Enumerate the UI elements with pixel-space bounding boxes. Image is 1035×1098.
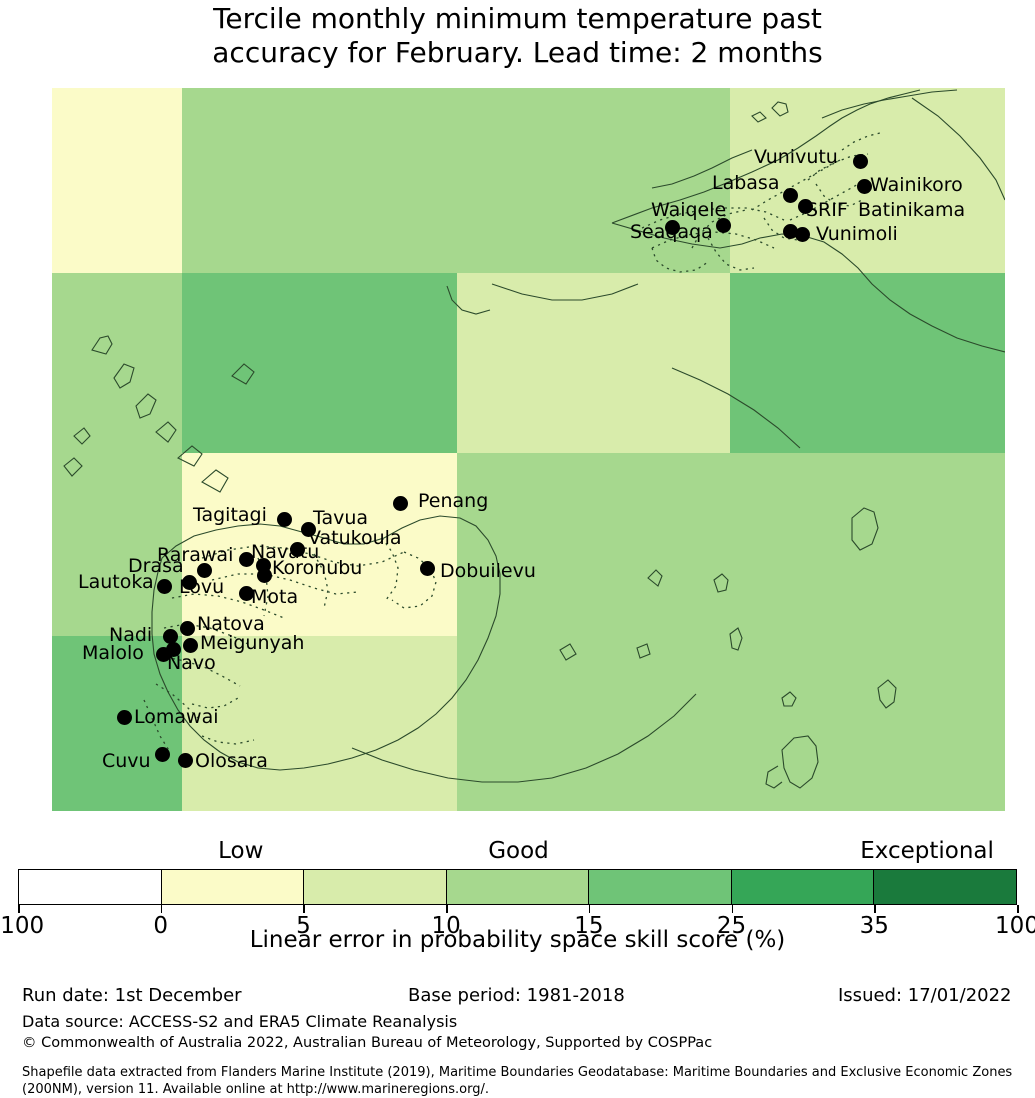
colorbar-category-label: Good (488, 838, 549, 864)
colorbar-tick-mark (161, 905, 163, 913)
station-label: Wainikoro (870, 176, 963, 195)
colorbar-band (19, 870, 161, 904)
colorbar-axis-label: Linear error in probability space skill … (0, 927, 1035, 953)
base-period-text: Base period: 1981-2018 (408, 985, 625, 1006)
station-dot (157, 579, 172, 594)
station-label: Dobuilevu (440, 562, 536, 581)
station-label: Olosara (195, 752, 268, 771)
station-label: Waiqele (651, 201, 726, 220)
station-dot (257, 568, 272, 583)
station-label: Koronubu (272, 559, 362, 578)
station-label: Meigunyah (200, 634, 304, 653)
colorbar-category-label: Exceptional (860, 838, 994, 864)
station-label: Lovu (179, 578, 224, 597)
station-label: Cuvu (102, 752, 151, 771)
station-label: Lautoka (78, 573, 154, 592)
title-line-1: Tercile monthly minimum temperature past (0, 2, 1035, 36)
station-dot (853, 154, 868, 169)
station-dot (183, 638, 198, 653)
colorbar-tick-mark (589, 905, 591, 913)
colorbar-band (446, 870, 589, 904)
station-label: Tagitagi (193, 506, 267, 525)
station-label: Batinikama (858, 201, 965, 220)
colorbar-tick-mark (1017, 905, 1019, 913)
station-dot (420, 561, 435, 576)
station-dot (117, 710, 132, 725)
colorbar-band (303, 870, 446, 904)
colorbar-tick-mark (874, 905, 876, 913)
colorbar-tick-mark (446, 905, 448, 913)
station-label: Lomawai (134, 708, 219, 727)
colorbar-band (731, 870, 874, 904)
station-dot (393, 496, 408, 511)
station-label: SRIF (806, 201, 848, 220)
station-label: Malolo (82, 644, 144, 663)
station-label: Mota (251, 588, 298, 607)
coastline-layer (52, 88, 1005, 811)
skill-score-map: VunivutuWainikoroLabasaWaiqeleSRIFBatini… (52, 88, 1005, 811)
station-label: Vunimoli (816, 225, 898, 244)
page-title: Tercile monthly minimum temperature past… (0, 2, 1035, 70)
station-label: Seaqaqa (630, 223, 713, 242)
station-dot (180, 621, 195, 636)
colorbar-band (873, 870, 1016, 904)
data-source-text: Data source: ACCESS-S2 and ERA5 Climate … (22, 1012, 457, 1031)
station-label: Tavua (313, 509, 368, 528)
colorbar-category-label: Low (218, 838, 263, 864)
shapefile-attribution-text: Shapefile data extracted from Flanders M… (22, 1064, 1022, 1098)
station-label: Penang (418, 492, 488, 511)
station-dot (155, 747, 170, 762)
station-label: Vatukoula (308, 529, 402, 548)
title-line-2: accuracy for February. Lead time: 2 mont… (0, 36, 1035, 70)
colorbar (18, 869, 1017, 905)
issued-date-text: Issued: 17/01/2022 (838, 985, 1012, 1006)
colorbar-band (588, 870, 731, 904)
colorbar-tick-mark (732, 905, 734, 913)
station-dot (783, 188, 798, 203)
colorbar-tick-mark (18, 905, 20, 913)
station-dot (795, 227, 810, 242)
station-label: Labasa (712, 174, 779, 193)
station-label: Vunivutu (754, 148, 838, 167)
footer: Run date: 1st December Base period: 1981… (0, 985, 1035, 1095)
run-date-text: Run date: 1st December (22, 985, 242, 1006)
station-dot (178, 753, 193, 768)
colorbar-tick-mark (303, 905, 305, 913)
copyright-text: © Commonwealth of Australia 2022, Austra… (22, 1035, 712, 1051)
station-dot (277, 512, 292, 527)
colorbar-band (161, 870, 304, 904)
station-label: Navo (167, 654, 216, 673)
